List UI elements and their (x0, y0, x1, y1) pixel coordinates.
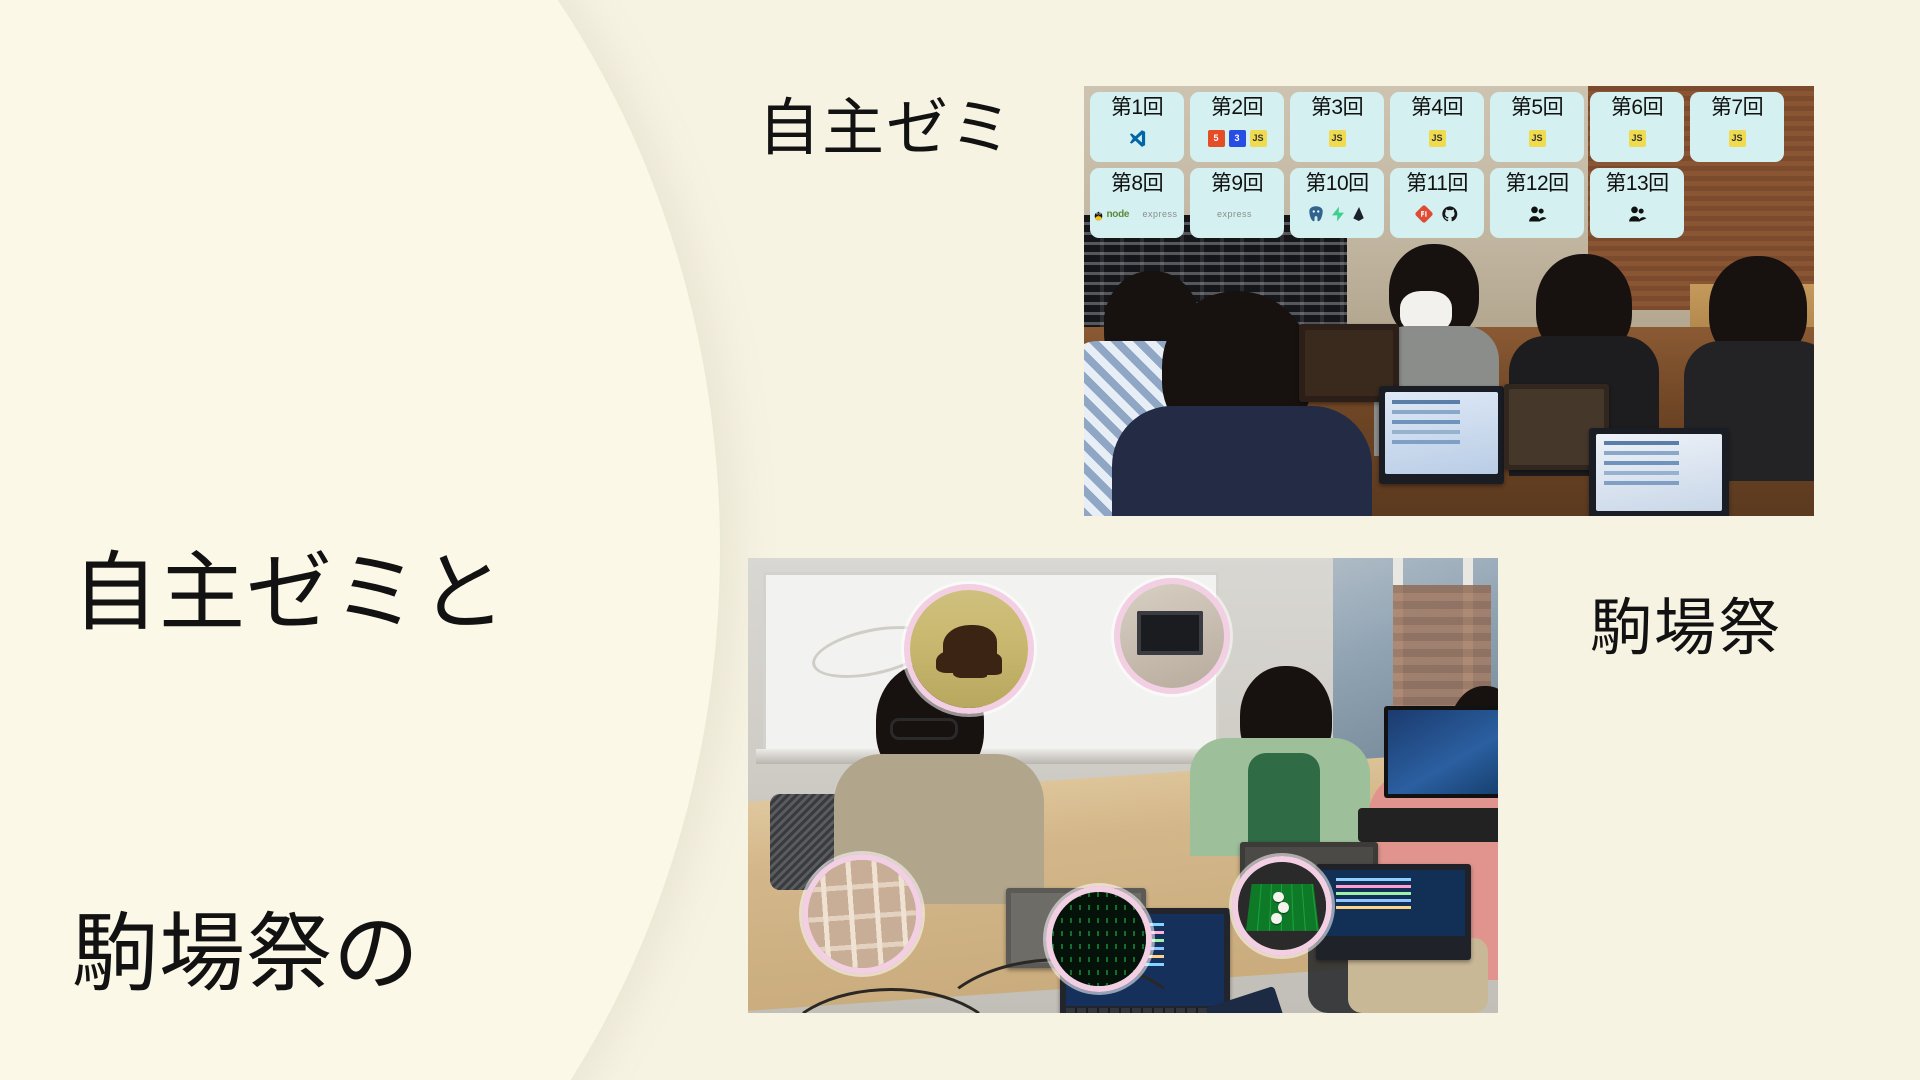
nodejs-icon: node (1107, 208, 1141, 221)
komaba-scene (748, 558, 1498, 1013)
lesson-card-7[interactable]: 第7回 JS (1690, 92, 1784, 162)
lesson-card-1-icons (1128, 123, 1147, 153)
komaba-person-1-glasses (890, 718, 958, 740)
lesson-card-5-icons: JS (1529, 123, 1546, 153)
lesson-card-10-icons (1307, 199, 1367, 229)
lesson-card-2[interactable]: 第2回 5 3 JS (1190, 92, 1284, 162)
javascript-icon: JS (1629, 130, 1646, 147)
lesson-card-3-title: 第3回 (1311, 95, 1363, 121)
javascript-icon: JS (1529, 130, 1546, 147)
lesson-card-13[interactable]: 第13回 (1590, 168, 1684, 238)
matrix-photo-callout (1046, 886, 1152, 992)
komaba-monitor (1384, 706, 1498, 798)
zemi-laptop-4 (1589, 428, 1729, 516)
express-icon: express (1143, 209, 1183, 220)
lesson-card-4-icons: JS (1429, 123, 1446, 153)
photo-komaba (748, 558, 1498, 1013)
lesson-card-row-1: 第1回 第2回 5 3 JS 第3回 JS (1090, 92, 1808, 162)
github-icon (1441, 205, 1459, 223)
prisma-icon (1351, 205, 1367, 223)
lesson-card-5[interactable]: 第5回 JS (1490, 92, 1584, 162)
lesson-card-row-2: 第8回 node express 第9回 express 第10回 (1090, 168, 1808, 238)
maze-photo-callout (802, 854, 922, 974)
express-icon: express (1217, 209, 1257, 220)
lesson-card-10-title: 第10回 (1305, 171, 1368, 197)
javascript-icon: JS (1329, 130, 1346, 147)
javascript-icon: JS (1729, 130, 1746, 147)
slide-canvas: 自主ゼミと 駒場祭の キックオフ をしました 自主ゼミ 駒場祭 (0, 0, 1920, 1080)
lesson-card-8-icons: node express (1092, 199, 1183, 229)
laptop-photo-callout (1114, 578, 1230, 694)
lesson-card-11-icons (1415, 199, 1459, 229)
linux-icon (1092, 207, 1105, 222)
lesson-card-4-title: 第4回 (1411, 95, 1463, 121)
zemi-person-2-body (1112, 406, 1372, 516)
lesson-card-9[interactable]: 第9回 express (1190, 168, 1284, 238)
lesson-card-grid: 第1回 第2回 5 3 JS 第3回 JS (1090, 92, 1808, 244)
people-icon (1526, 204, 1548, 224)
lesson-card-12[interactable]: 第12回 (1490, 168, 1584, 238)
horse-photo-callout (904, 584, 1034, 714)
zemi-laptop-2 (1379, 386, 1504, 484)
lesson-card-9-icons: express (1217, 199, 1257, 229)
vscode-icon (1128, 129, 1147, 148)
lesson-card-10[interactable]: 第10回 (1290, 168, 1384, 238)
lesson-card-12-title: 第12回 (1505, 171, 1568, 197)
lesson-card-13-icons (1626, 199, 1648, 229)
lesson-card-1-title: 第1回 (1111, 95, 1163, 121)
lesson-card-5-title: 第5回 (1511, 95, 1563, 121)
lesson-card-7-icons: JS (1729, 123, 1746, 153)
lesson-card-2-icons: 5 3 JS (1208, 123, 1267, 153)
lesson-card-4[interactable]: 第4回 JS (1390, 92, 1484, 162)
headline-line-1: 自主ゼミと (72, 533, 592, 653)
css3-icon: 3 (1229, 130, 1246, 147)
lesson-card-13-title: 第13回 (1605, 171, 1668, 197)
lesson-card-7-title: 第7回 (1711, 95, 1763, 121)
javascript-icon: JS (1250, 130, 1267, 147)
komaba-person-2-shirt (1248, 753, 1320, 853)
headline-line-2: 駒場祭の (72, 894, 592, 1014)
lesson-card-11[interactable]: 第11回 (1390, 168, 1484, 238)
lesson-card-8-title: 第8回 (1111, 171, 1163, 197)
section-label-komaba: 駒場祭 (1590, 598, 1782, 660)
people-icon (1626, 204, 1648, 224)
lesson-card-6-icons: JS (1629, 123, 1646, 153)
lesson-card-3-icons: JS (1329, 123, 1346, 153)
lesson-card-2-title: 第2回 (1211, 95, 1263, 121)
git-icon (1415, 205, 1433, 223)
komaba-laptop-right (1316, 864, 1471, 960)
section-label-zemi: 自主ゼミ (758, 98, 1014, 160)
lesson-card-6[interactable]: 第6回 JS (1590, 92, 1684, 162)
supabase-icon (1330, 205, 1346, 223)
lesson-card-9-title: 第9回 (1211, 171, 1263, 197)
javascript-icon: JS (1429, 130, 1446, 147)
lesson-card-8[interactable]: 第8回 node express (1090, 168, 1184, 238)
lesson-card-6-title: 第6回 (1611, 95, 1663, 121)
lesson-card-12-icons (1526, 199, 1548, 229)
komaba-keyboard (1358, 808, 1498, 842)
page-title: 自主ゼミと 駒場祭の キックオフ をしました (72, 292, 592, 1080)
othello-photo-callout (1232, 856, 1332, 956)
lesson-card-3[interactable]: 第3回 JS (1290, 92, 1384, 162)
postgresql-icon (1307, 205, 1325, 223)
lesson-card-1[interactable]: 第1回 (1090, 92, 1184, 162)
lesson-card-11-title: 第11回 (1406, 171, 1468, 197)
html5-icon: 5 (1208, 130, 1225, 147)
